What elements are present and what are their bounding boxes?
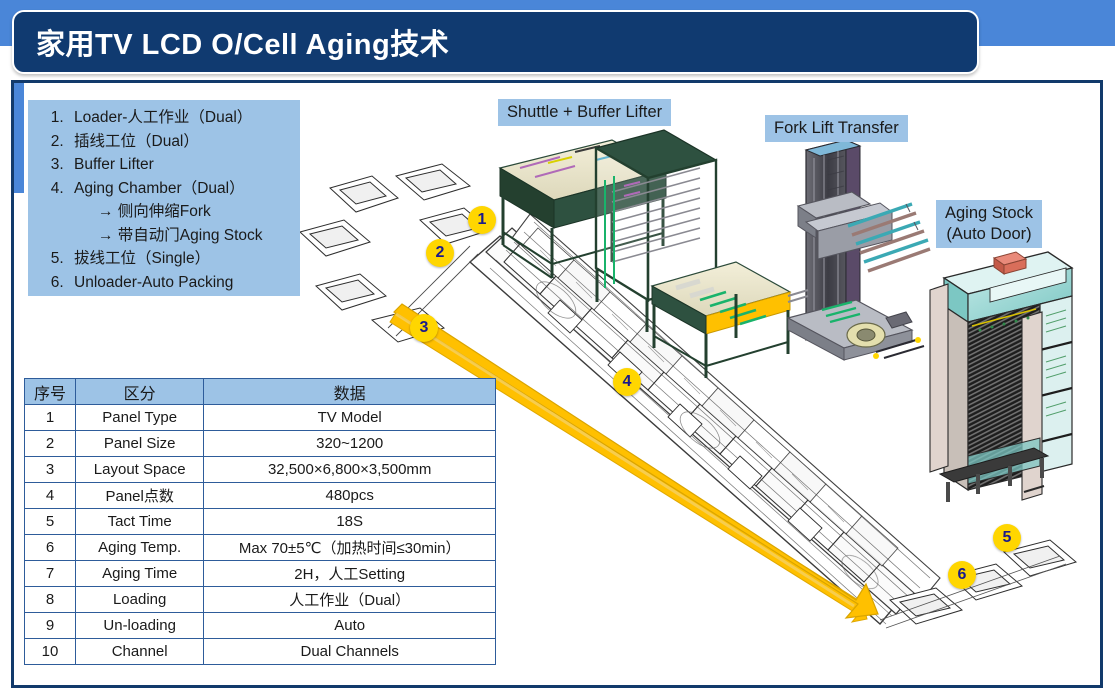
legend-box: Loader-人工作业（Dual） 插线工位（Dual） Buffer Lift… (28, 100, 300, 296)
cell-data: Auto (204, 613, 496, 639)
table-row: 6Aging Temp.Max 70±5℃（加热时间≤30min） (25, 535, 496, 561)
legend-item-3: Buffer Lifter (68, 153, 300, 177)
table-row: 2Panel Size320~1200 (25, 431, 496, 457)
table-row: 4Panel点数480pcs (25, 483, 496, 509)
cell-division: Channel (75, 639, 203, 665)
step-marker-6[interactable]: 6 (948, 561, 976, 589)
cell-data: TV Model (204, 405, 496, 431)
legend-item-6: Unloader-Auto Packing (68, 271, 300, 295)
header-no: 序号 (25, 379, 76, 405)
cell-division: Un-loading (75, 613, 203, 639)
table-row: 1Panel TypeTV Model (25, 405, 496, 431)
cell-data: 18S (204, 509, 496, 535)
cell-no: 3 (25, 457, 76, 483)
table-row: 3Layout Space32,500×6,800×3,500mm (25, 457, 496, 483)
cell-no: 6 (25, 535, 76, 561)
cell-division: Tact Time (75, 509, 203, 535)
cell-no: 9 (25, 613, 76, 639)
cell-data: Max 70±5℃（加热时间≤30min） (204, 535, 496, 561)
spec-table-body: 1Panel TypeTV Model2Panel Size320~12003L… (25, 405, 496, 665)
cell-division: Panel Size (75, 431, 203, 457)
cell-no: 10 (25, 639, 76, 665)
cell-no: 8 (25, 587, 76, 613)
callout-shuttle-buffer-lifter: Shuttle + Buffer Lifter (498, 99, 671, 126)
step-marker-3[interactable]: 3 (410, 314, 438, 342)
legend-list: Loader-人工作业（Dual） 插线工位（Dual） Buffer Lift… (28, 100, 300, 294)
cell-no: 2 (25, 431, 76, 457)
table-row: 7Aging Time2H，人工Setting (25, 561, 496, 587)
legend-item-2: 插线工位（Dual） (68, 130, 300, 154)
legend-subitem-1: → 侧向伸缩Fork (92, 200, 300, 224)
cell-division: Panel点数 (75, 483, 203, 509)
header-div: 区分 (75, 379, 203, 405)
step-marker-4[interactable]: 4 (613, 368, 641, 396)
cell-data: 480pcs (204, 483, 496, 509)
cell-division: Panel Type (75, 405, 203, 431)
table-row: 5Tact Time18S (25, 509, 496, 535)
table-row: 9Un-loadingAuto (25, 613, 496, 639)
cell-division: Aging Time (75, 561, 203, 587)
step-marker-1[interactable]: 1 (468, 206, 496, 234)
header-data: 数据 (204, 379, 496, 405)
table-row: 8Loading人工作业（Dual） (25, 587, 496, 613)
legend-subitem-2: → 带自动门Aging Stock (92, 224, 300, 248)
cell-no: 4 (25, 483, 76, 509)
spec-table: 序号 区分 数据 1Panel TypeTV Model2Panel Size3… (24, 378, 496, 665)
legend-item-4: Aging Chamber（Dual） (68, 177, 300, 201)
cell-division: Loading (75, 587, 203, 613)
cell-division: Layout Space (75, 457, 203, 483)
title-bar: 家用TV LCD O/Cell Aging技术 (12, 10, 979, 74)
left-accent-bar (14, 83, 24, 193)
page-title: 家用TV LCD O/Cell Aging技术 (14, 21, 449, 63)
cell-data: 32,500×6,800×3,500mm (204, 457, 496, 483)
legend-item-5: 拔线工位（Single） (68, 247, 300, 271)
callout-fork-lift-transfer: Fork Lift Transfer (765, 115, 908, 142)
cell-no: 5 (25, 509, 76, 535)
step-marker-2[interactable]: 2 (426, 239, 454, 267)
cell-no: 1 (25, 405, 76, 431)
cell-data: 2H，人工Setting (204, 561, 496, 587)
callout-aging-stock: Aging Stock (Auto Door) (936, 200, 1042, 248)
step-marker-5[interactable]: 5 (993, 524, 1021, 552)
cell-division: Aging Temp. (75, 535, 203, 561)
table-header-row: 序号 区分 数据 (25, 379, 496, 405)
cell-no: 7 (25, 561, 76, 587)
table-row: 10ChannelDual Channels (25, 639, 496, 665)
cell-data: 人工作业（Dual） (204, 587, 496, 613)
legend-item-1: Loader-人工作业（Dual） (68, 106, 300, 130)
cell-data: Dual Channels (204, 639, 496, 665)
cell-data: 320~1200 (204, 431, 496, 457)
